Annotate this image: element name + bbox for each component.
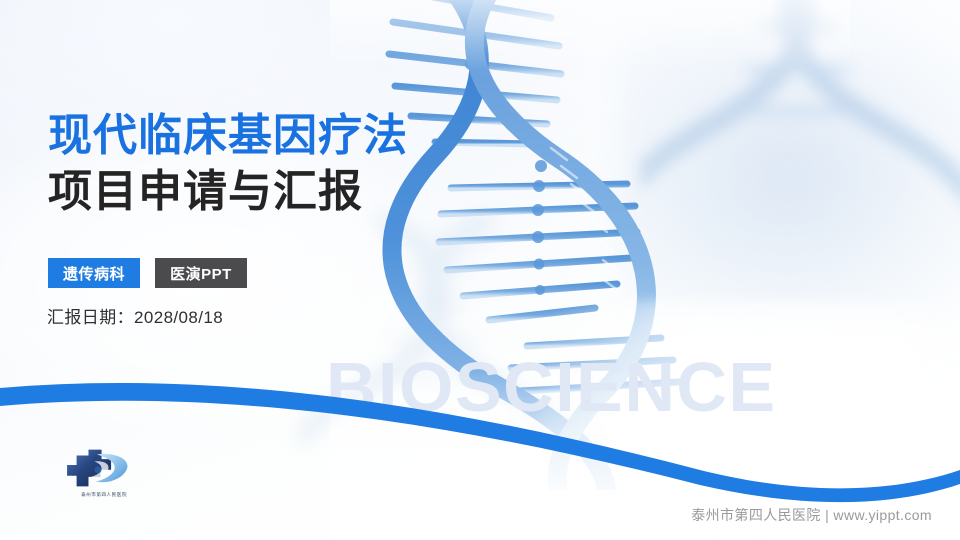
badge-template-brand[interactable]: 医演PPT <box>155 258 247 288</box>
hospital-logo-caption: 泰州市第四人民医院 <box>56 492 152 498</box>
report-date: 汇报日期：2028/08/18 <box>47 303 223 328</box>
title-line-1: 现代临床基因疗法 <box>48 108 518 164</box>
badge-group: 遗传病科 医演PPT <box>48 258 247 288</box>
badge-department[interactable]: 遗传病科 <box>48 258 140 288</box>
title-line-2: 项目申请与汇报 <box>48 164 518 220</box>
footer-credit: 泰州市第四人民医院 | www.yippt.com <box>691 505 932 525</box>
hospital-logo: 泰州市第四人民医院 <box>56 446 152 508</box>
presentation-slide: BIOSCIENCE 现代临床基因疗法 项目申请与汇报 遗传病科 医演PPT 汇… <box>0 0 960 540</box>
hospital-logo-icon <box>62 446 134 490</box>
slide-title: 现代临床基因疗法 项目申请与汇报 <box>48 108 518 221</box>
